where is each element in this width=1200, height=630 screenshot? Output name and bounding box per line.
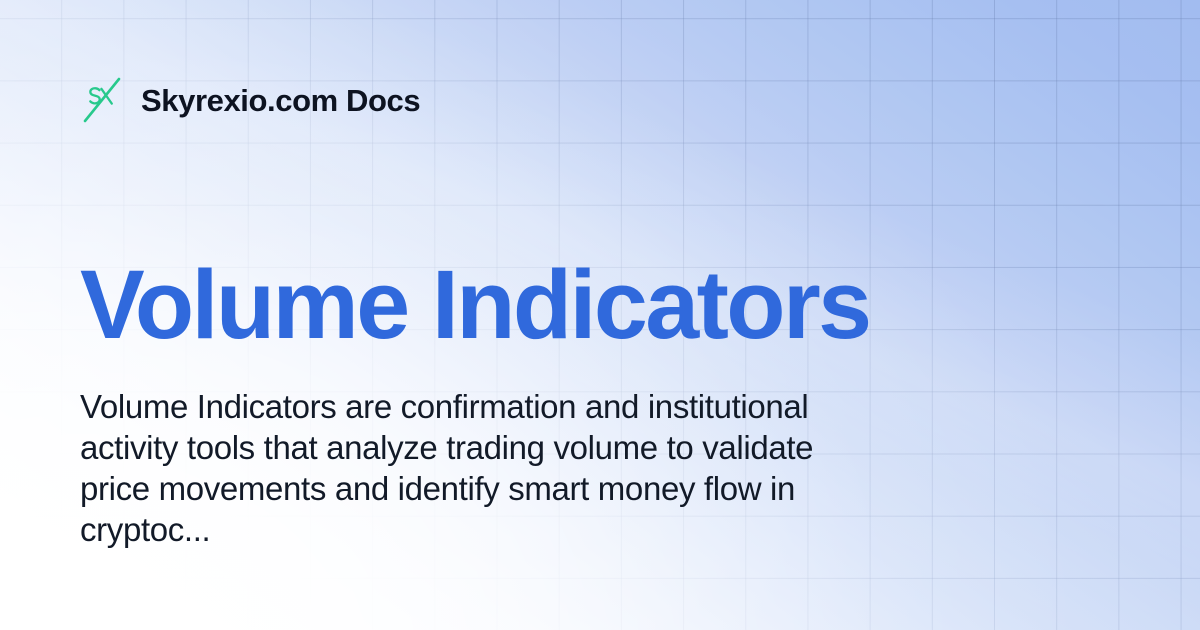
skyrexio-sx-monogram-icon [80,76,124,124]
brand-name: Skyrexio.com Docs [141,85,420,116]
page-title: Volume Indicators [80,256,869,353]
brand-lockup[interactable]: Skyrexio.com Docs [80,76,420,124]
content-layer: Skyrexio.com Docs Volume Indicators Volu… [0,0,1200,630]
page-description: Volume Indicators are confirmation and i… [80,386,870,550]
og-card: Skyrexio.com Docs Volume Indicators Volu… [0,0,1200,630]
